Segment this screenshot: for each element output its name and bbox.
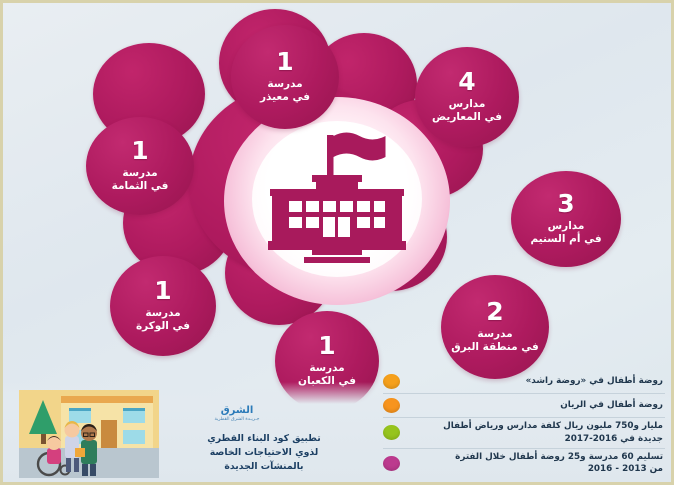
legend-dot-green-icon	[383, 425, 400, 440]
legend-dot-magenta-icon	[383, 456, 400, 471]
bubble-label: مدارس في أم السنيم	[524, 220, 607, 247]
bubble-number: 1	[154, 278, 171, 304]
legend-label: روضة أطفال في الريان	[408, 399, 663, 412]
bubble-number: 2	[486, 299, 503, 325]
legend-label: مليار و750 مليون ريال كلفة مدارس ورياض أ…	[408, 420, 663, 446]
legend-item-al-rayyan[interactable]: روضة أطفال في الريان	[383, 394, 665, 418]
infographic-canvas: 1 مدرسة في معيذر 4 مدارس في المعاريض 1 م…	[0, 0, 674, 485]
bubble-label: مدرسة في معيذر	[254, 78, 316, 105]
bubble-label: مدارس في المعاريض	[426, 98, 508, 125]
bubble-label: مدرسة في الثمامة	[106, 167, 175, 194]
children-with-wheelchair-at-school-illustration	[19, 390, 159, 478]
legend-item-budget[interactable]: مليار و750 مليون ريال كلفة مدارس ورياض أ…	[383, 418, 665, 449]
bubble-thumama[interactable]: 1 مدرسة في الثمامة	[86, 117, 194, 215]
footer-caption: تطبيق كود البناء القطري لذوي الاحتياجات …	[169, 432, 359, 474]
bubble-number: 1	[131, 138, 148, 164]
school-building-icon	[262, 129, 412, 269]
legend-dot-orange-icon	[383, 398, 400, 413]
al-sharq-logo: الشرق جـريـدة الشرق القطرية	[201, 405, 273, 422]
legend-label: روضة أطفال في «روضة راشد»	[408, 375, 663, 388]
bubble-al-wakra[interactable]: 1 مدرسة في الوكرة	[110, 256, 216, 356]
bubble-number: 1	[318, 333, 335, 359]
bubble-number: 4	[458, 69, 475, 95]
legend-item-delivery[interactable]: تسليم 60 مدرسة و25 روضة أطفال خلال الفتر…	[383, 449, 665, 479]
legend-label: تسليم 60 مدرسة و25 روضة أطفال خلال الفتر…	[408, 451, 663, 477]
bubble-al-barq[interactable]: 2 مدرسة في منطقة البرق	[441, 275, 549, 379]
bubble-label: مدرسة في الوكرة	[130, 307, 196, 334]
logo-subtitle: جـريـدة الشرق القطرية	[201, 417, 273, 422]
bubble-muaither[interactable]: 1 مدرسة في معيذر	[231, 25, 339, 129]
legend-item-rawdat-rashed[interactable]: روضة أطفال في «روضة راشد»	[383, 370, 665, 394]
legend: روضة أطفال في «روضة راشد» روضة أطفال في …	[383, 370, 665, 478]
bubble-number: 3	[557, 191, 574, 217]
footer-strip: الشرق جـريـدة الشرق القطرية تطبيق كود ال…	[3, 382, 671, 482]
legend-dot-orange-icon	[383, 374, 400, 389]
bubble-label: مدرسة في منطقة البرق	[445, 328, 545, 355]
logo-title: الشرق	[201, 405, 273, 416]
bubble-maarid[interactable]: 4 مدارس في المعاريض	[415, 47, 519, 147]
bubble-number: 1	[276, 49, 293, 75]
bubble-umm-al-sanim[interactable]: 3 مدارس في أم السنيم	[511, 171, 621, 267]
